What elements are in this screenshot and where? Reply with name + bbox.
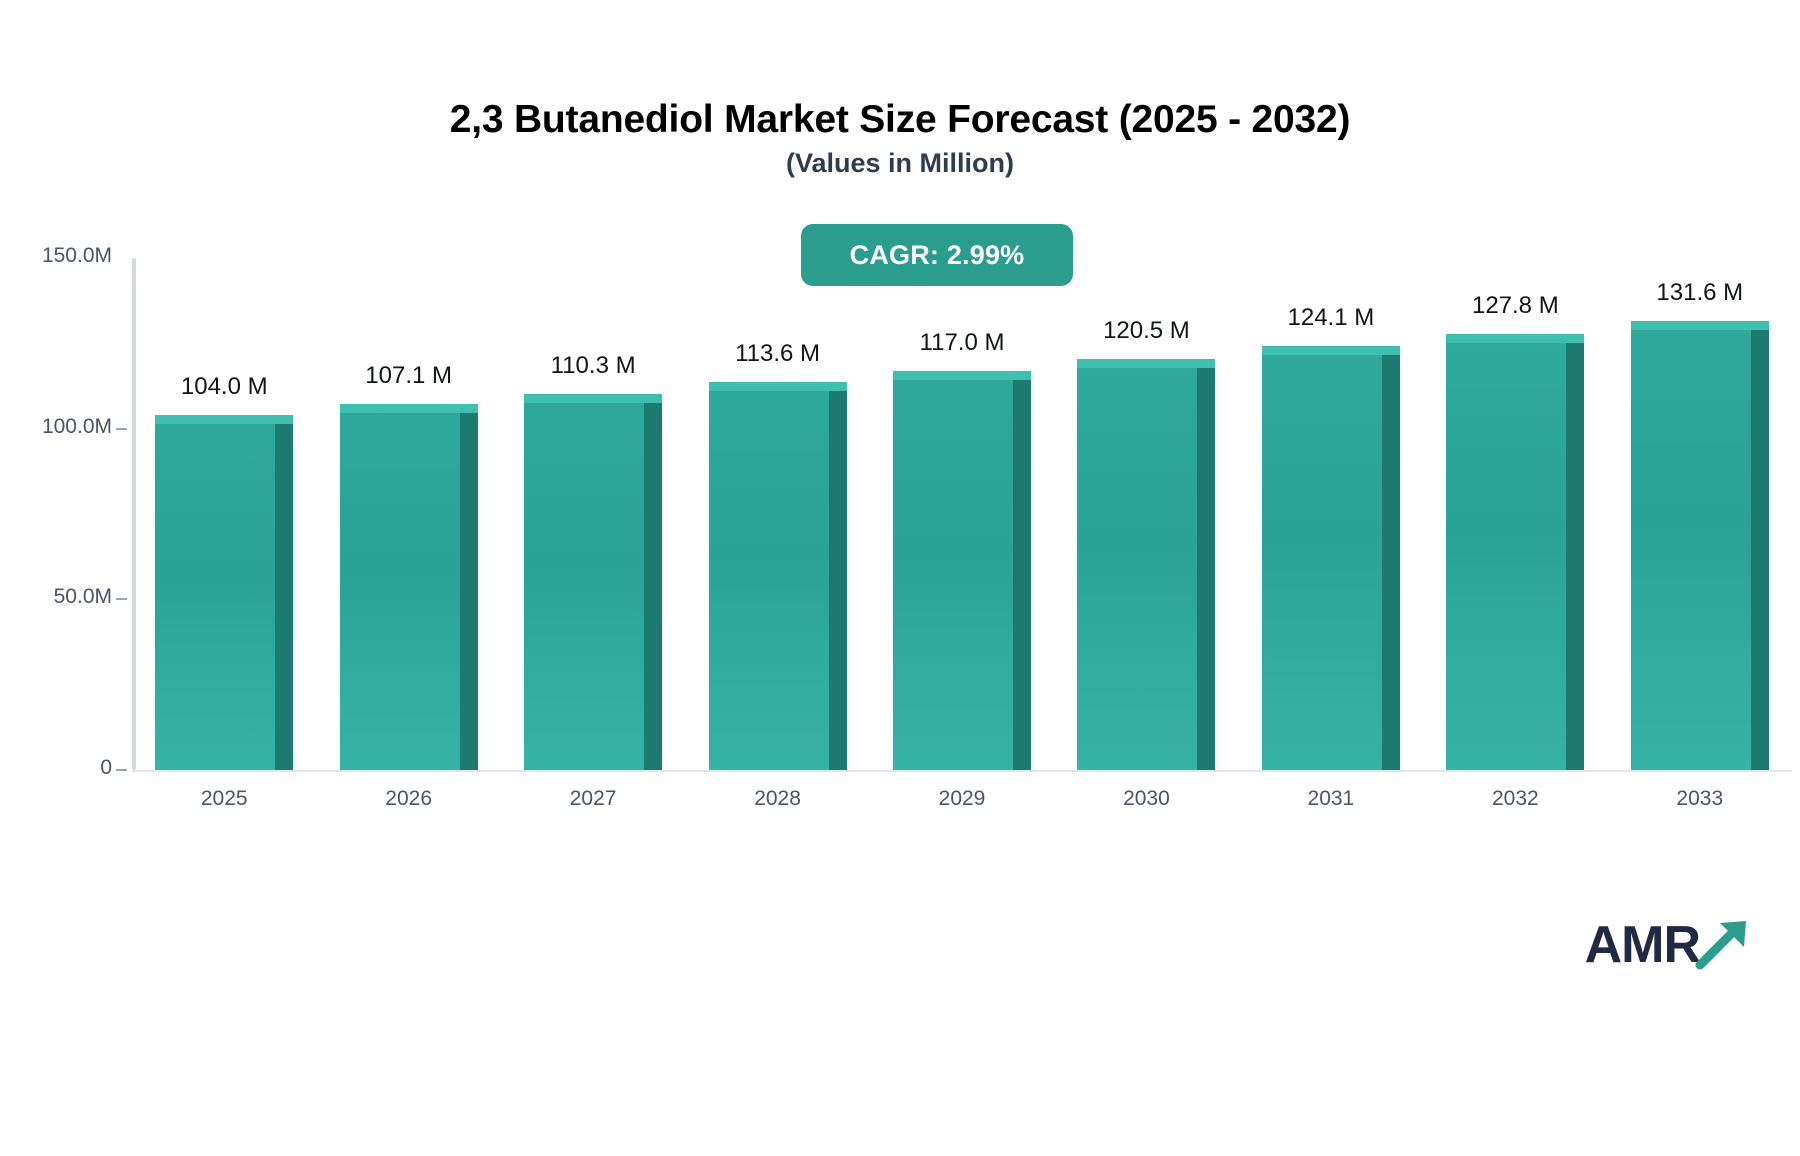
x-axis-label: 2027 <box>533 787 653 811</box>
x-axis-label: 2032 <box>1455 787 1575 811</box>
bar-front-face <box>1077 359 1197 770</box>
amr-logo-text: AMR <box>1585 919 1700 971</box>
bar[interactable] <box>1077 359 1215 770</box>
bar-front-face <box>340 404 460 770</box>
bar-front-face <box>524 394 644 770</box>
bar-front-face <box>1631 321 1751 770</box>
y-axis-tick-label: 0 <box>100 756 112 780</box>
bar-top-face <box>524 394 662 403</box>
bar[interactable] <box>709 382 847 770</box>
x-axis-label: 2029 <box>902 787 1022 811</box>
bar-front-face <box>155 415 275 770</box>
x-axis-line <box>132 770 1792 772</box>
bar-value-label: 131.6 M <box>1591 279 1800 307</box>
bar-side-face <box>644 403 662 770</box>
bar[interactable] <box>340 404 478 770</box>
bar-side-face <box>1197 368 1215 770</box>
chart-page: 2,3 Butanediol Market Size Forecast (202… <box>0 0 1800 1156</box>
bar-side-face <box>1751 330 1769 770</box>
amr-logo: AMR <box>1585 915 1754 971</box>
x-axis-label: 2025 <box>164 787 284 811</box>
x-axis-label: 2030 <box>1086 787 1206 811</box>
bar[interactable] <box>155 415 293 770</box>
bar-side-face <box>1013 380 1031 770</box>
bar-side-face <box>460 413 478 770</box>
bar-top-face <box>1631 321 1769 330</box>
bar-side-face <box>829 391 847 770</box>
bar-front-face <box>1262 346 1382 770</box>
bar-series: 104.0 M107.1 M110.3 M113.6 M117.0 M120.5… <box>132 258 1792 770</box>
y-axis-tick-label: 150.0M <box>42 244 112 268</box>
bar-top-face <box>1446 334 1584 343</box>
x-axis-label: 2028 <box>718 787 838 811</box>
bar[interactable] <box>1446 334 1584 770</box>
bar-top-face <box>1262 346 1400 355</box>
bar-front-face <box>1446 334 1566 770</box>
bar-top-face <box>893 371 1031 380</box>
growth-arrow-icon <box>1694 915 1754 971</box>
x-axis-label: 2026 <box>349 787 469 811</box>
bar[interactable] <box>1631 321 1769 770</box>
bar-front-face <box>893 371 1013 770</box>
bar[interactable] <box>1262 346 1400 770</box>
bar[interactable] <box>893 371 1031 770</box>
chart-subtitle: (Values in Million) <box>0 148 1800 179</box>
y-axis-tick-mark <box>116 769 127 771</box>
bar-side-face <box>1382 355 1400 770</box>
bar[interactable] <box>524 394 662 770</box>
bar-side-face <box>1566 343 1584 770</box>
bar-side-face <box>275 424 293 770</box>
y-axis-tick-label: 50.0M <box>54 585 112 609</box>
bar-top-face <box>1077 359 1215 368</box>
chart-title: 2,3 Butanediol Market Size Forecast (202… <box>0 98 1800 142</box>
y-axis-tick-label: 100.0M <box>42 415 112 439</box>
bar-top-face <box>340 404 478 413</box>
x-axis-label: 2031 <box>1271 787 1391 811</box>
bar-top-face <box>155 415 293 424</box>
y-axis-tick-mark <box>116 598 127 600</box>
bar-front-face <box>709 382 829 770</box>
x-axis-label: 2033 <box>1640 787 1760 811</box>
bar-top-face <box>709 382 847 391</box>
y-axis-tick-mark <box>116 428 127 430</box>
